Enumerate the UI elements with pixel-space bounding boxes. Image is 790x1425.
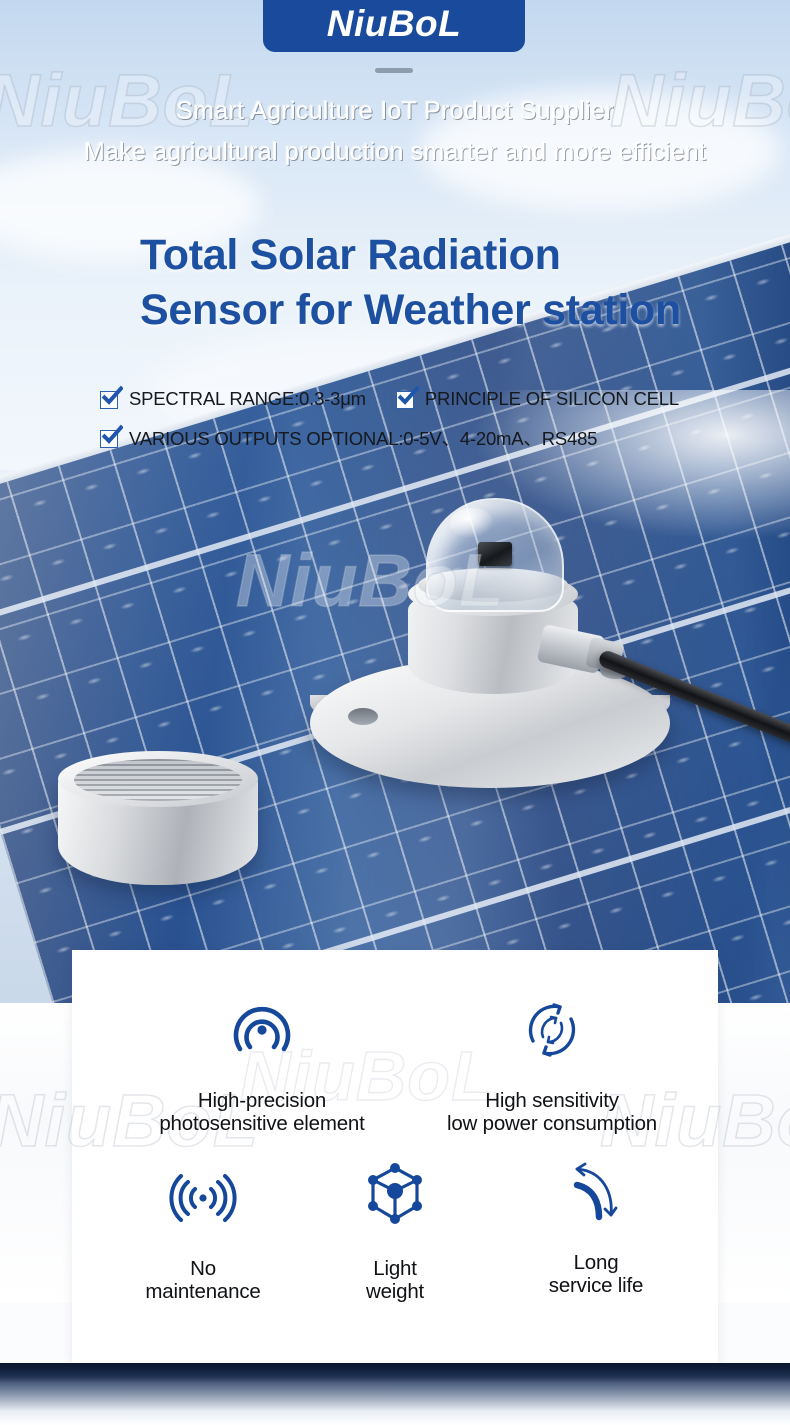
- concentric-sensor-waves-icon: [102, 992, 422, 1068]
- feature-label: Long service life: [490, 1252, 702, 1298]
- headline-line-1: Total Solar Radiation: [140, 228, 760, 283]
- checkbox-checked-icon: [100, 429, 119, 448]
- brand-logo-text: NiuBoL: [327, 3, 462, 52]
- page-title: Total Solar Radiation Sensor for Weather…: [140, 228, 760, 338]
- metal-cap: [58, 745, 258, 895]
- solar-radiation-sensor: [300, 490, 700, 820]
- footer-band: [0, 1363, 790, 1425]
- feature-label: High-precision photosensitive element: [102, 1090, 422, 1136]
- molecular-lattice-icon: [300, 1156, 490, 1232]
- curved-arrows-lifespan-icon: [490, 1156, 702, 1232]
- tagline-primary: Smart Agriculture IoT Product Supplier: [0, 97, 790, 126]
- feature-item: High sensitivity low power consumption: [402, 992, 702, 1136]
- circular-arrows-refresh-icon: [402, 992, 702, 1068]
- headline-line-2: Sensor for Weather station: [140, 283, 760, 338]
- bullet-label: PRINCIPLE OF SILICON CELL: [425, 388, 679, 410]
- product-banner-page: NiuBoL NiuBoL NiuBoL NiuBoL Smart Agricu…: [0, 0, 790, 1425]
- feature-bullet-list: SPECTRAL RANGE:0.3-3μm PRINCIPLE OF SILI…: [100, 388, 720, 466]
- feature-label: High sensitivity low power consumption: [402, 1090, 702, 1136]
- feature-item: High-precision photosensitive element: [102, 992, 422, 1136]
- checkbox-checked-icon: [396, 390, 415, 409]
- bullet-item: PRINCIPLE OF SILICON CELL: [396, 388, 679, 410]
- mounting-hole: [348, 708, 378, 725]
- feature-item: No maintenance: [88, 1160, 318, 1304]
- bullet-item: SPECTRAL RANGE:0.3-3μm: [100, 388, 366, 410]
- tagline-secondary: Make agricultural production smarter and…: [0, 138, 790, 167]
- feature-label: No maintenance: [88, 1258, 318, 1304]
- feature-label: Light weight: [300, 1258, 490, 1304]
- checkbox-checked-icon: [100, 390, 119, 409]
- bullet-label: VARIOUS OUTPUTS OPTIONAL:0-5V、4-20mA、RS4…: [129, 425, 597, 451]
- feature-item: Light weight: [300, 1156, 490, 1304]
- brand-logo-badge[interactable]: NiuBoL: [263, 0, 525, 52]
- bullet-item: VARIOUS OUTPUTS OPTIONAL:0-5V、4-20mA、RS4…: [100, 425, 597, 451]
- features-grid: High-precision photosensitive element Hi…: [72, 950, 718, 1363]
- silicon-cell: [478, 542, 512, 566]
- feature-item: Long service life: [490, 1156, 702, 1298]
- bullet-label: SPECTRAL RANGE:0.3-3μm: [129, 388, 366, 410]
- bilateral-signal-waves-icon: [88, 1160, 318, 1236]
- bullet-row: VARIOUS OUTPUTS OPTIONAL:0-5V、4-20mA、RS4…: [100, 425, 720, 451]
- bullet-row: SPECTRAL RANGE:0.3-3μm PRINCIPLE OF SILI…: [100, 388, 720, 410]
- logo-underline-dash: [375, 68, 413, 73]
